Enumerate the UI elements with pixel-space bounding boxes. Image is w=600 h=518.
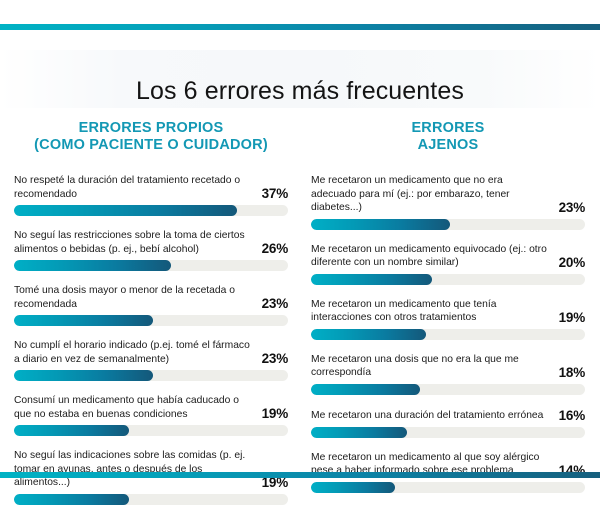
bar-track xyxy=(311,427,585,438)
bar-fill xyxy=(14,260,171,271)
bar-track xyxy=(311,482,585,493)
bar-row-header: Me recetaron una dosis que no era la que… xyxy=(311,353,585,380)
bar-label: No seguí las indicaciones sobre las comi… xyxy=(14,449,254,490)
bar-row-header: Me recetaron un medicamento equivocado (… xyxy=(311,243,585,270)
bar-track xyxy=(14,315,288,326)
bar-row-header: Tomé una dosis mayor o menor de la recet… xyxy=(14,284,288,311)
bar-value: 19% xyxy=(262,406,288,421)
bar-row: Consumí un medicamento que había caducad… xyxy=(14,394,288,436)
bar-fill xyxy=(311,329,426,340)
bar-label: Consumí un medicamento que había caducad… xyxy=(14,394,254,421)
bar-row-header: No cumplí el horario indicado (p.ej. tom… xyxy=(14,339,288,366)
bar-fill xyxy=(311,219,450,230)
bar-value: 19% xyxy=(559,310,585,325)
bar-fill xyxy=(14,494,129,505)
bar-label: No cumplí el horario indicado (p.ej. tom… xyxy=(14,339,254,366)
bar-track xyxy=(14,494,288,505)
bar-label: Me recetaron un medicamento que no era a… xyxy=(311,174,551,215)
column-heading-line-2: (COMO PACIENTE O CUIDADOR) xyxy=(14,137,288,154)
bar-label: Tomé una dosis mayor o menor de la recet… xyxy=(14,284,254,311)
bar-value: 23% xyxy=(559,200,585,215)
bar-fill xyxy=(311,427,407,438)
bar-fill xyxy=(14,315,153,326)
bar-row-header: Me recetaron una duración del tratamient… xyxy=(311,408,585,423)
bar-label: No respeté la duración del tratamiento r… xyxy=(14,174,254,201)
bar-value: 23% xyxy=(262,296,288,311)
bar-row: No respeté la duración del tratamiento r… xyxy=(14,174,288,216)
bar-row: Me recetaron una duración del tratamient… xyxy=(311,408,585,438)
top-accent-rule xyxy=(0,24,600,30)
bar-label: Me recetaron un medicamento equivocado (… xyxy=(311,243,551,270)
bar-fill xyxy=(14,205,237,216)
column-heading-ajenos: ERRORES AJENOS xyxy=(311,120,585,154)
bar-track xyxy=(311,329,585,340)
bar-row-header: No seguí las restricciones sobre la toma… xyxy=(14,229,288,256)
bar-track xyxy=(311,274,585,285)
bar-row: Me recetaron una dosis que no era la que… xyxy=(311,353,585,395)
bar-row-header: Me recetaron un medicamento que no era a… xyxy=(311,174,585,215)
bar-value: 37% xyxy=(262,186,288,201)
column-heading-propios: ERRORES PROPIOS (COMO PACIENTE O CUIDADO… xyxy=(14,120,288,154)
bar-track xyxy=(14,425,288,436)
bar-row-header: Consumí un medicamento que había caducad… xyxy=(14,394,288,421)
bar-fill xyxy=(14,370,153,381)
page-title: Los 6 errores más frecuentes xyxy=(0,77,600,106)
column-heading-line-1: ERRORES PROPIOS xyxy=(14,120,288,137)
bar-track xyxy=(311,219,585,230)
bar-label: No seguí las restricciones sobre la toma… xyxy=(14,229,254,256)
bar-row: Me recetaron un medicamento equivocado (… xyxy=(311,243,585,285)
column-heading-line-1: ERRORES xyxy=(311,120,585,137)
bar-value: 20% xyxy=(559,255,585,270)
column-errores-ajenos: ERRORES AJENOS Me recetaron un medicamen… xyxy=(300,120,600,518)
column-errores-propios: ERRORES PROPIOS (COMO PACIENTE O CUIDADO… xyxy=(0,120,300,518)
bar-fill xyxy=(14,425,129,436)
bar-row-header: No seguí las indicaciones sobre las comi… xyxy=(14,449,288,490)
bar-value: 26% xyxy=(262,241,288,256)
bar-value: 16% xyxy=(559,408,585,423)
chart-columns: ERRORES PROPIOS (COMO PACIENTE O CUIDADO… xyxy=(0,120,600,518)
bar-track xyxy=(14,370,288,381)
bar-row: No seguí las restricciones sobre la toma… xyxy=(14,229,288,271)
bar-fill xyxy=(311,482,395,493)
bar-row: Tomé una dosis mayor o menor de la recet… xyxy=(14,284,288,326)
bar-label: Me recetaron una dosis que no era la que… xyxy=(311,353,551,380)
column-heading-line-2: AJENOS xyxy=(311,137,585,154)
bar-value: 23% xyxy=(262,351,288,366)
bar-row: Me recetaron un medicamento que tenía in… xyxy=(311,298,585,340)
bar-label: Me recetaron un medicamento que tenía in… xyxy=(311,298,551,325)
bar-value: 18% xyxy=(559,365,585,380)
bar-fill xyxy=(311,384,420,395)
bottom-accent-rule xyxy=(0,472,600,478)
bar-row: No cumplí el horario indicado (p.ej. tom… xyxy=(14,339,288,381)
bar-row-header: Me recetaron un medicamento que tenía in… xyxy=(311,298,585,325)
bar-row-header: No respeté la duración del tratamiento r… xyxy=(14,174,288,201)
bar-track xyxy=(14,260,288,271)
bar-track xyxy=(311,384,585,395)
bar-label: Me recetaron una duración del tratamient… xyxy=(311,409,551,423)
bar-row: Me recetaron un medicamento que no era a… xyxy=(311,174,585,230)
bar-fill xyxy=(311,274,432,285)
bar-track xyxy=(14,205,288,216)
